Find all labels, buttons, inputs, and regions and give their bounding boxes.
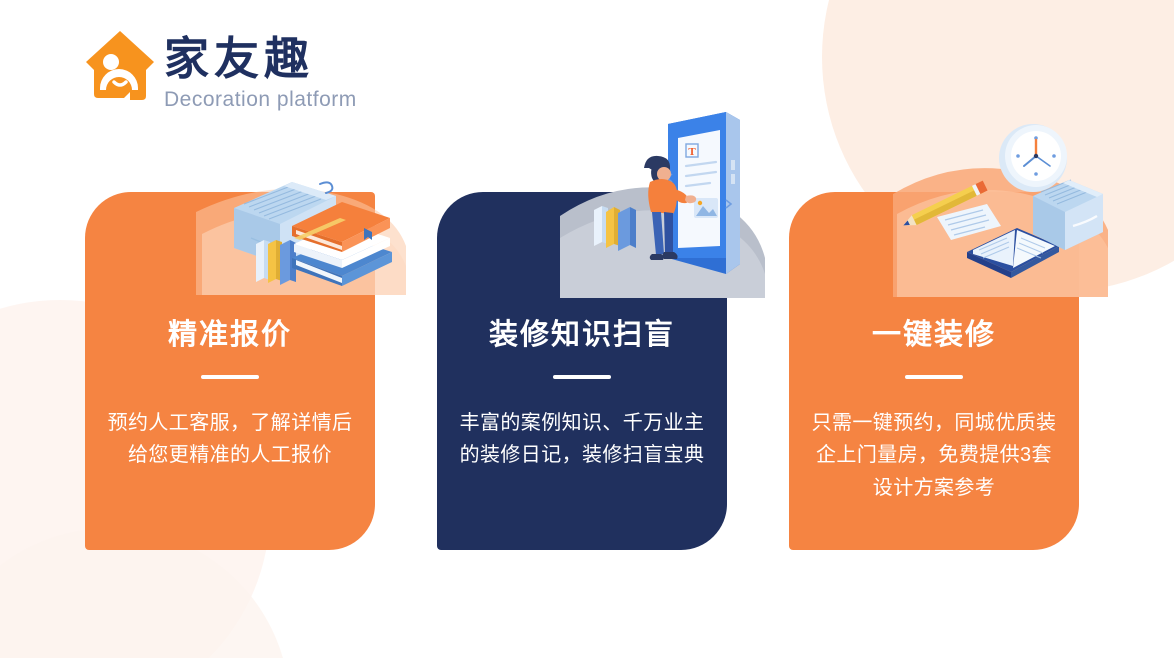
feature-card-precise-quote[interactable]: 精准报价 预约人工客服，了解详情后给您更精准的人工报价 bbox=[85, 192, 375, 550]
feature-card-one-click-decoration[interactable]: 一键装修 只需一键预约，同城优质装企上门量房，免费提供3套设计方案参考 bbox=[789, 192, 1079, 550]
feature-card-decoration-knowledge[interactable]: 装修知识扫盲 丰富的案例知识、千万业主的装修日记，装修扫盲宝典 bbox=[437, 192, 727, 550]
card-divider bbox=[905, 375, 963, 379]
card-description: 丰富的案例知识、千万业主的装修日记，装修扫盲宝典 bbox=[455, 407, 709, 472]
card-description: 只需一键预约，同城优质装企上门量房，免费提供3套设计方案参考 bbox=[807, 407, 1061, 504]
brand-logo[interactable]: 家友趣 Decoration platform bbox=[84, 28, 357, 113]
slide-canvas: 家友趣 Decoration platform 精准报价 预约人工客服，了解详情… bbox=[0, 0, 1174, 658]
card-title: 一键装修 bbox=[872, 318, 996, 353]
card-divider bbox=[201, 375, 259, 379]
house-smile-icon bbox=[84, 28, 156, 104]
card-divider bbox=[553, 375, 611, 379]
card-title: 精准报价 bbox=[168, 318, 292, 353]
brand-tagline: Decoration platform bbox=[164, 87, 357, 113]
brand-name: 家友趣 bbox=[164, 32, 357, 85]
card-description: 预约人工客服，了解详情后给您更精准的人工报价 bbox=[103, 407, 357, 472]
card-title: 装修知识扫盲 bbox=[489, 318, 675, 353]
